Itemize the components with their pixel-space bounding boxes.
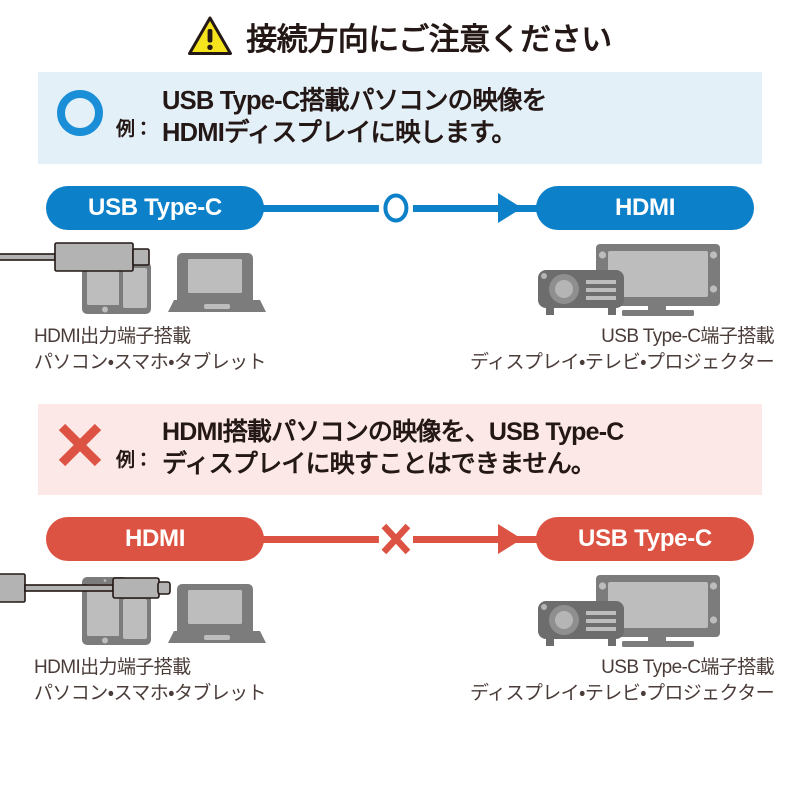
usbc-to-hdmi-cable-icon (0, 240, 172, 274)
ng-devices-row (40, 571, 760, 649)
ok-flow-circle-ok-icon (379, 191, 413, 225)
ng-left-caption: HDMI出力端子搭載 パソコン・スマホ・タブレット (34, 655, 266, 706)
ng-callout-line2: ディスプレイに映すことはできません。 (162, 449, 623, 481)
ok-left-caption-line2: パソコン・スマホ・タブレット (34, 350, 266, 376)
ng-right-caption-line2: ディスプレイ・テレビ・プロジェクター (470, 681, 774, 707)
ok-target-badge: HDMI (536, 186, 754, 230)
ok-callout-box: 例： USB Type-C搭載パソコンの映像を HDMIディスプレイに映します。 (38, 72, 762, 164)
ok-callout-line2: HDMIディスプレイに映します。 (162, 117, 546, 149)
ng-flow-cross-icon (379, 522, 413, 556)
ng-rei-label: 例： (116, 445, 152, 472)
ng-left-caption-line2: パソコン・スマホ・タブレット (34, 681, 266, 707)
ok-flow-row: USB Type-C HDMI (46, 186, 754, 230)
ng-right-caption: USB Type-C端子搭載 ディスプレイ・テレビ・プロジェクター (470, 655, 774, 706)
ok-source-badge: USB Type-C (46, 186, 264, 230)
ok-captions-row: HDMI出力端子搭載 パソコン・スマホ・タブレット USB Type-C端子搭載… (26, 324, 774, 378)
warning-diagram-page: 接続方向にご注意ください 例： USB Type-C搭載パソコンの映像を HDM… (0, 0, 800, 800)
ok-callout-line1: USB Type-C搭載パソコンの映像を (162, 85, 546, 117)
circle-ok-icon (54, 87, 106, 139)
ng-right-caption-line1: USB Type-C端子搭載 (601, 657, 774, 678)
arrow-right-icon (498, 524, 522, 554)
projector-tv-display-icon (530, 242, 730, 318)
ng-callout-line1: HDMI搭載パソコンの映像を、USB Type-C (162, 417, 623, 449)
ok-callout-text: USB Type-C搭載パソコンの映像を HDMIディスプレイに映します。 (162, 85, 546, 149)
ok-right-caption-line2: ディスプレイ・テレビ・プロジェクター (470, 350, 774, 376)
projector-tv-display-icon (530, 573, 730, 649)
ng-section: 例： HDMI搭載パソコンの映像を、USB Type-C ディスプレイに映すこと… (0, 404, 800, 709)
ok-right-caption: USB Type-C端子搭載 ディスプレイ・テレビ・プロジェクター (470, 324, 774, 375)
ok-rei-label: 例： (116, 114, 152, 141)
ok-section: 例： USB Type-C搭載パソコンの映像を HDMIディスプレイに映します。… (0, 72, 800, 378)
ok-left-caption-line1: HDMI出力端子搭載 (34, 326, 191, 347)
ng-callout-text: HDMI搭載パソコンの映像を、USB Type-C ディスプレイに映すことはでき… (162, 417, 623, 480)
hdmi-to-usbc-cable-icon (0, 571, 172, 605)
cross-ng-icon (54, 419, 106, 471)
ok-left-caption: HDMI出力端子搭載 パソコン・スマホ・タブレット (34, 324, 266, 375)
ng-callout-box: 例： HDMI搭載パソコンの映像を、USB Type-C ディスプレイに映すこと… (38, 404, 762, 495)
ng-captions-row: HDMI出力端子搭載 パソコン・スマホ・タブレット USB Type-C端子搭載… (26, 655, 774, 709)
ng-left-caption-line1: HDMI出力端子搭載 (34, 657, 191, 678)
arrow-right-icon (498, 193, 522, 223)
ng-source-badge: HDMI (46, 517, 264, 561)
ok-right-caption-line1: USB Type-C端子搭載 (601, 326, 774, 347)
ok-devices-row (40, 240, 760, 318)
page-title-row: 接続方向にご注意ください (0, 0, 800, 72)
ng-target-badge: USB Type-C (536, 517, 754, 561)
warning-triangle-icon (188, 16, 232, 56)
page-title: 接続方向にご注意ください (246, 14, 611, 59)
ng-flow-row: HDMI USB Type-C (46, 517, 754, 561)
